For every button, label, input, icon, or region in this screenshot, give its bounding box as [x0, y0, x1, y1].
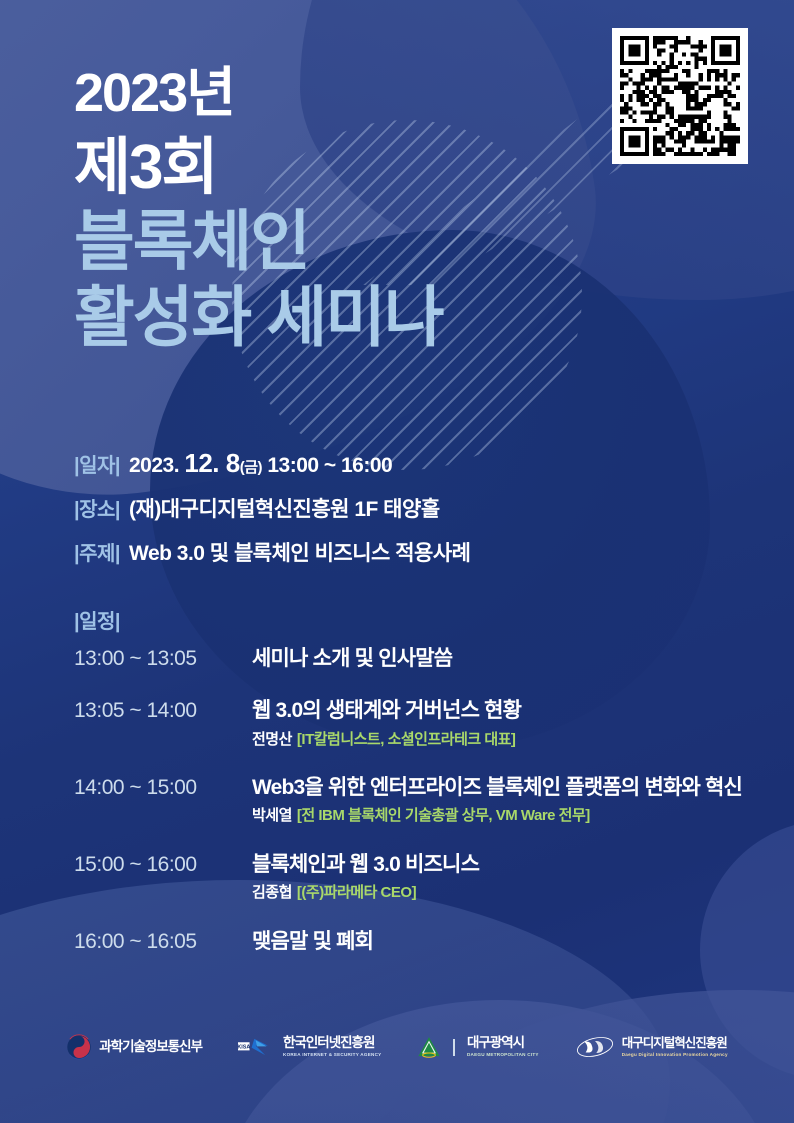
schedule-heading: |일정|	[74, 605, 764, 634]
footer-logo-text: 대구디지털혁신진흥원Daegu Digital Innovation Promo…	[622, 1037, 728, 1057]
event-info: |일자| 2023. 12. 8(금) 13:00 ~ 16:00 |장소| (…	[74, 448, 734, 581]
schedule-section: |일정| 13:00 ~ 13:05세미나 소개 및 인사말씀13:05 ~ 1…	[74, 605, 764, 981]
taegeuk-icon	[66, 1034, 92, 1060]
footer-logo-name-en: DAEGU METROPOLITAN CITY	[467, 1052, 539, 1058]
speaker-organization: [(주)파라메타 CEO]	[297, 884, 416, 901]
title-main-2: 활성화 세미나	[74, 283, 443, 353]
footer-logo-text: 과학기술정보통신부	[99, 1040, 202, 1055]
speaker-organization: [IT칼럼니스트, 소셜인프라테크 대표]	[297, 731, 516, 748]
date-label: |일자|	[74, 449, 120, 478]
schedule-rows: 13:00 ~ 13:05세미나 소개 및 인사말씀13:05 ~ 14:00웹…	[74, 646, 764, 955]
footer-logo-name-kr: 대구광역시	[467, 1036, 539, 1051]
speaker-name: 전명산	[252, 731, 292, 748]
schedule-body: 세미나 소개 및 인사말씀	[252, 646, 764, 672]
schedule-time: 13:00 ~ 13:05	[74, 646, 252, 671]
poster-title-block: 2023년 제3회 블록체인 활성화 세미나	[74, 66, 443, 353]
taegeuk-icon	[66, 1034, 92, 1060]
schedule-row: 13:00 ~ 13:05세미나 소개 및 인사말씀	[74, 646, 764, 672]
footer-logo-text: 대구광역시DAEGU METROPOLITAN CITY	[467, 1036, 539, 1057]
schedule-time: 14:00 ~ 15:00	[74, 775, 252, 800]
speaker-organization: [전 IBM 블록체인 기술총괄 상무, VM Ware 전무]	[297, 807, 590, 824]
schedule-title: 웹 3.0의 생태계와 거버넌스 현황	[252, 698, 764, 724]
daegu-mountain-icon	[417, 1035, 441, 1059]
title-edition: 제3회	[74, 135, 443, 201]
schedule-title: 세미나 소개 및 인사말씀	[252, 646, 764, 672]
footer-logo-text: 한국인터넷진흥원KOREA INTERNET & SECURITY AGENCY	[283, 1036, 381, 1057]
footer-logo-name-en: Daegu Digital Innovation Promotion Agenc…	[622, 1052, 728, 1058]
schedule-body: Web3을 위한 엔터프라이즈 블록체인 플랫폼의 변화와 혁신박세열[전 IB…	[252, 775, 764, 826]
schedule-title: 맺음말 및 폐회	[252, 929, 764, 955]
kisa-icon: KISA	[238, 1037, 276, 1057]
schedule-time: 15:00 ~ 16:00	[74, 852, 252, 877]
schedule-row: 16:00 ~ 16:05맺음말 및 폐회	[74, 929, 764, 955]
info-row-topic: |주제| Web 3.0 및 블록체인 비즈니스 적용사례	[74, 537, 734, 567]
info-row-place: |장소| (재)대구디지털혁신진흥원 1F 태양홀	[74, 493, 734, 523]
footer-logos: 과학기술정보통신부 KISA 한국인터넷진흥원KOREA INTERNET & …	[0, 1034, 794, 1060]
footer-logo-name-kr: 대구디지털혁신진흥원	[622, 1037, 728, 1051]
footer-logo-name-kr: 과학기술정보통신부	[99, 1040, 202, 1055]
poster-canvas: 2023년 제3회 블록체인 활성화 세미나 |일자| 2023. 12. 8(…	[0, 0, 794, 1123]
date-prefix: 2023.	[129, 454, 184, 477]
schedule-body: 블록체인과 웹 3.0 비즈니스김종협[(주)파라메타 CEO]	[252, 852, 764, 903]
topic-label: |주제|	[74, 537, 120, 566]
svg-text:KISA: KISA	[238, 1045, 250, 1051]
schedule-title: Web3을 위한 엔터프라이즈 블록체인 플랫폼의 변화와 혁신	[252, 775, 764, 801]
footer-logo-name-kr: 한국인터넷진흥원	[283, 1036, 381, 1051]
footer-logo-name-en: KOREA INTERNET & SECURITY AGENCY	[283, 1052, 381, 1058]
title-year: 2023년	[74, 66, 443, 121]
qr-code-image	[620, 36, 740, 156]
schedule-speaker: 김종협[(주)파라메타 CEO]	[252, 883, 764, 903]
footer-logo: 대구디지털혁신진흥원Daegu Digital Innovation Promo…	[575, 1036, 728, 1058]
footer-logo: KISA 한국인터넷진흥원KOREA INTERNET & SECURITY A…	[238, 1036, 381, 1057]
schedule-speaker: 전명산[IT칼럼니스트, 소셜인프라테크 대표]	[252, 730, 764, 750]
background-wave-bottom-mid	[220, 1000, 780, 1123]
dip-icon	[575, 1036, 615, 1058]
schedule-row: 14:00 ~ 15:00Web3을 위한 엔터프라이즈 블록체인 플랫폼의 변…	[74, 775, 764, 826]
place-label: |장소|	[74, 493, 120, 522]
schedule-time: 16:00 ~ 16:05	[74, 929, 252, 954]
topic-value: Web 3.0 및 블록체인 비즈니스 적용사례	[129, 537, 470, 567]
logo-divider	[453, 1039, 455, 1056]
speaker-name: 박세열	[252, 807, 292, 824]
date-day: (금)	[240, 459, 262, 476]
info-row-date: |일자| 2023. 12. 8(금) 13:00 ~ 16:00	[74, 448, 734, 479]
kisa-icon: KISA	[238, 1037, 276, 1057]
date-big: 12. 8	[184, 448, 239, 478]
schedule-speaker: 박세열[전 IBM 블록체인 기술총괄 상무, VM Ware 전무]	[252, 806, 764, 826]
schedule-time: 13:05 ~ 14:00	[74, 698, 252, 723]
schedule-title: 블록체인과 웹 3.0 비즈니스	[252, 852, 764, 878]
daegu-mountain-icon	[417, 1035, 441, 1059]
place-value: (재)대구디지털혁신진흥원 1F 태양홀	[129, 493, 440, 523]
dip-icon	[575, 1036, 615, 1058]
schedule-row: 15:00 ~ 16:00블록체인과 웹 3.0 비즈니스김종협[(주)파라메타…	[74, 852, 764, 903]
schedule-body: 맺음말 및 폐회	[252, 929, 764, 955]
footer-logo: 과학기술정보통신부	[66, 1034, 202, 1060]
date-time: 13:00 ~ 16:00	[262, 454, 392, 477]
schedule-row: 13:05 ~ 14:00웹 3.0의 생태계와 거버넌스 현황전명산[IT칼럼…	[74, 698, 764, 749]
schedule-body: 웹 3.0의 생태계와 거버넌스 현황전명산[IT칼럼니스트, 소셜인프라테크 …	[252, 698, 764, 749]
footer-logo: 대구광역시DAEGU METROPOLITAN CITY	[417, 1035, 538, 1059]
speaker-name: 김종협	[252, 884, 292, 901]
title-main-1: 블록체인	[74, 207, 443, 277]
date-value: 2023. 12. 8(금) 13:00 ~ 16:00	[129, 448, 392, 479]
qr-code[interactable]	[612, 28, 748, 164]
